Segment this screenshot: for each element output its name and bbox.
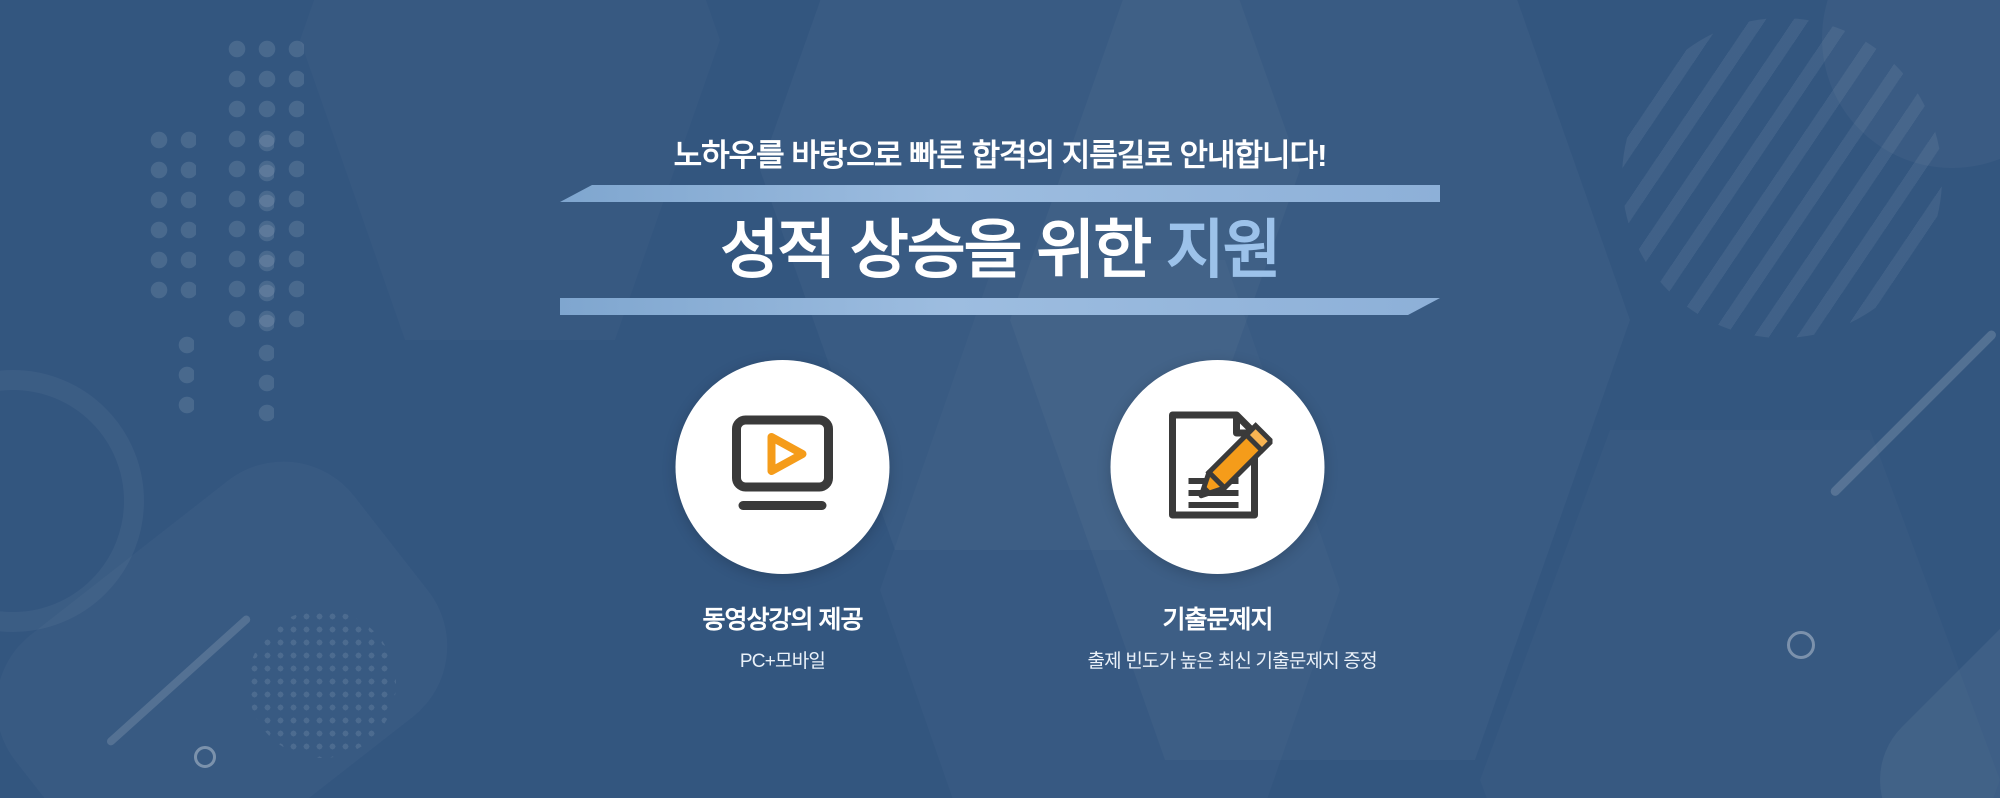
feature-icon-circle	[1111, 360, 1325, 574]
page-title-main: 성적 상승을 위한	[720, 214, 1150, 286]
feature-icon-circle	[676, 360, 890, 574]
feature-title: 동영상강의 제공	[653, 600, 913, 636]
feature-item-exam-papers[interactable]: 기출문제지 출제 빈도가 높은 최신 기출문제지 증정	[1088, 360, 1348, 673]
banner-content: 노하우를 바탕으로 빠른 합격의 지름길로 안내합니다! 성적 상승을 위한 지…	[0, 0, 2000, 798]
feature-subtitle: PC+모바일	[653, 646, 913, 673]
document-pencil-icon	[1163, 409, 1273, 526]
page-title-accent: 지원	[1166, 214, 1280, 286]
feature-item-video[interactable]: 동영상강의 제공 PC+모바일	[653, 360, 913, 673]
banner-tagline: 노하우를 바탕으로 빠른 합격의 지름길로 안내합니다!	[0, 130, 2000, 175]
page-title: 성적 상승을 위한 지원	[560, 199, 1440, 301]
banner-title-block: 성적 상승을 위한 지원	[560, 185, 1440, 315]
promo-banner: 노하우를 바탕으로 빠른 합격의 지름길로 안내합니다! 성적 상승을 위한 지…	[0, 0, 2000, 798]
monitor-play-icon	[724, 413, 842, 522]
feature-subtitle: 출제 빈도가 높은 최신 기출문제지 증정	[1088, 646, 1348, 673]
feature-list: 동영상강의 제공 PC+모바일	[653, 360, 1348, 673]
feature-title: 기출문제지	[1088, 600, 1348, 636]
